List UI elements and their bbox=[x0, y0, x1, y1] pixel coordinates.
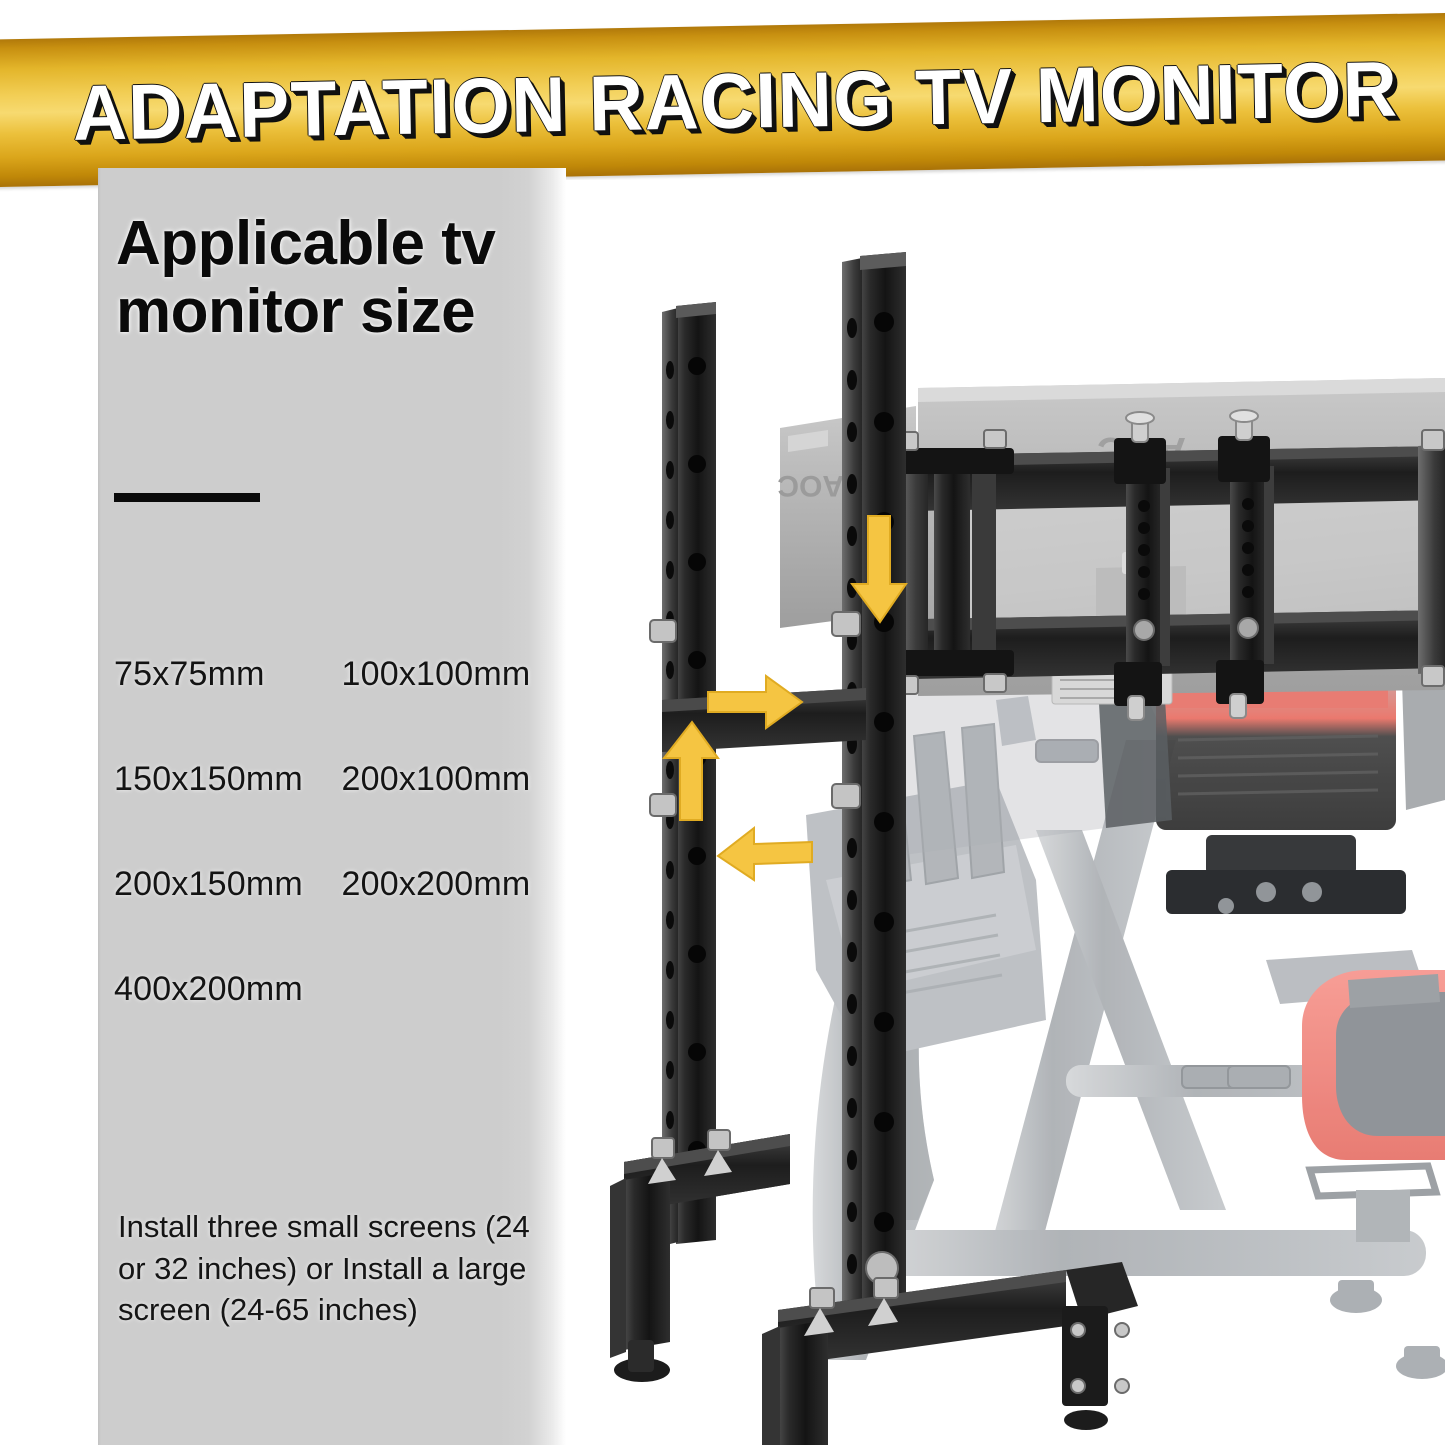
banner-title-wrap: ADAPTATION RACING TV MONITOR bbox=[0, 13, 1445, 189]
vesa-arm bbox=[1126, 468, 1170, 670]
title-banner: ADAPTATION RACING TV MONITOR bbox=[0, 26, 1445, 176]
vesa-size: 200x100mm bbox=[342, 760, 570, 865]
vesa-row: 75x75mm 100x100mm bbox=[114, 655, 569, 760]
vesa-size: 200x150mm bbox=[114, 865, 342, 970]
vesa-row: 200x150mm 200x200mm bbox=[114, 865, 569, 970]
vesa-size: 75x75mm bbox=[114, 655, 342, 760]
product-photo: AOC AOC bbox=[566, 180, 1445, 1445]
panel-heading: Applicable tv monitor size bbox=[116, 210, 566, 346]
vesa-arm bbox=[1230, 466, 1274, 668]
vesa-size bbox=[342, 970, 570, 1075]
vesa-size: 150x150mm bbox=[114, 760, 342, 865]
banner-title-text: ADAPTATION RACING TV MONITOR bbox=[72, 43, 1399, 158]
vesa-row: 150x150mm 200x100mm bbox=[114, 760, 569, 865]
vesa-row: 400x200mm bbox=[114, 970, 569, 1075]
vesa-size: 400x200mm bbox=[114, 970, 342, 1075]
post-right-tall bbox=[832, 252, 906, 1336]
svg-text:AOC: AOC bbox=[777, 469, 844, 502]
vesa-size-grid: 75x75mm 100x100mm 150x150mm 200x100mm 20… bbox=[114, 655, 569, 1075]
infographic-page: ADAPTATION RACING TV MONITOR Applicable … bbox=[0, 0, 1445, 1445]
install-note: Install three small screens (24 or 32 in… bbox=[118, 1206, 548, 1331]
vesa-size: 200x200mm bbox=[342, 865, 570, 970]
heading-underline bbox=[114, 493, 260, 502]
vesa-size: 100x100mm bbox=[342, 655, 570, 760]
product-illustration: AOC AOC bbox=[566, 180, 1445, 1445]
